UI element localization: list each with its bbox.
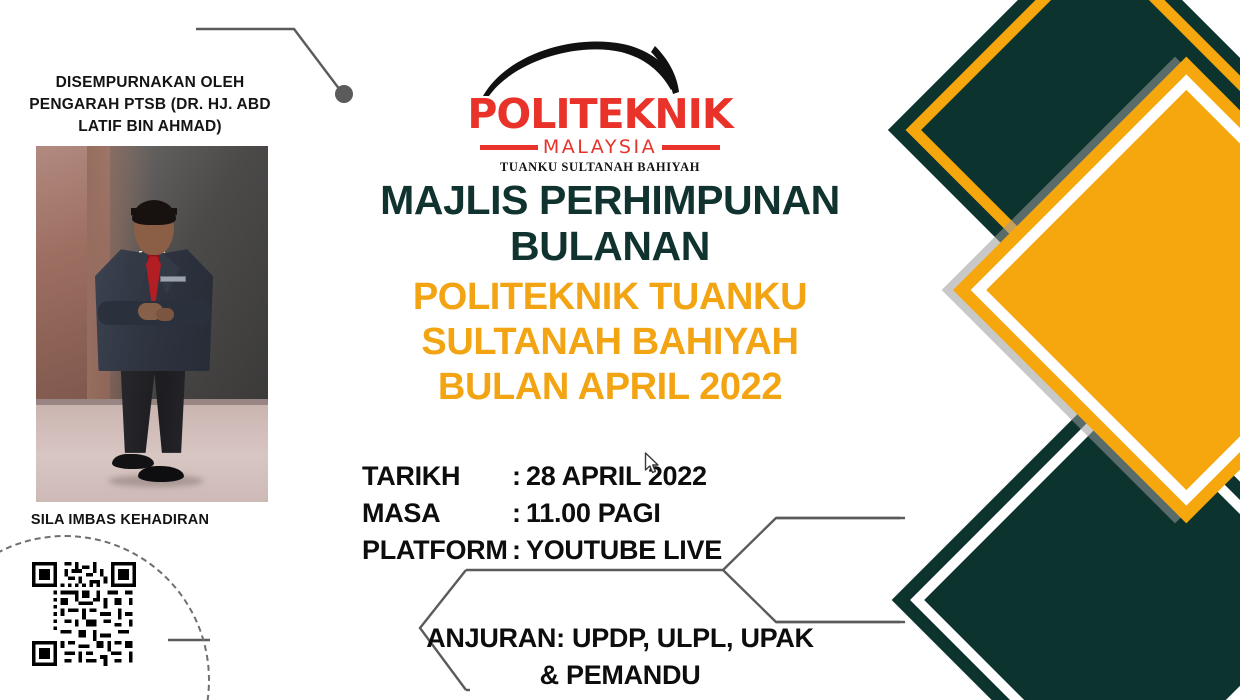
organizers-line-1: ANJURAN: UPDP, ULPL, UPAK (395, 620, 845, 657)
director-caption-line-2: PENGARAH PTSB (DR. HJ. ABD (0, 94, 300, 116)
photo-person-shoe-right (138, 466, 184, 482)
page-subtitle: POLITEKNIK TUANKU SULTANAH BAHIYAH BULAN… (330, 275, 890, 409)
page-title-line-1: MAJLIS PERHIMPUNAN (330, 178, 890, 224)
director-caption: DISEMPURNAKAN OLEH PENGARAH PTSB (DR. HJ… (0, 72, 300, 138)
detail-value-platform: YOUTUBE LIVE (526, 532, 782, 569)
logo-bar-right (662, 145, 720, 150)
page-title: MAJLIS PERHIMPUNAN BULANAN (330, 178, 890, 270)
page-title-line-2: BULANAN (330, 224, 890, 270)
detail-sep-masa: : (512, 495, 526, 532)
page-subtitle-line-1: POLITEKNIK TUANKU (330, 275, 890, 320)
attendance-qr-code[interactable] (32, 562, 136, 666)
presentation-slide: DISEMPURNAKAN OLEH PENGARAH PTSB (DR. HJ… (0, 0, 1240, 700)
logo-bar-left (480, 145, 538, 150)
mouse-cursor (644, 452, 661, 476)
director-caption-line-3: LATIF BIN AHMAD) (0, 116, 300, 138)
organizers-text: ANJURAN: UPDP, ULPL, UPAK & PEMANDU (395, 620, 845, 695)
logo-country-row: MALAYSIA (455, 136, 745, 158)
detail-label-platform: PLATFORM (362, 532, 512, 569)
logo-wordmark: POLITEKNIK (455, 90, 745, 138)
page-subtitle-line-2: SULTANAH BAHIYAH (330, 320, 890, 365)
detail-sep-platform: : (512, 532, 526, 569)
logo-campus: TUANKU SULTANAH BAHIYAH (455, 160, 745, 175)
logo-arc-icon (455, 38, 745, 98)
poliketnik-logo: POLITEKNIK MALAYSIA TUANKU SULTANAH BAHI… (455, 38, 745, 158)
director-caption-line-1: DISEMPURNAKAN OLEH (0, 72, 300, 94)
detail-row-platform: PLATFORM : YOUTUBE LIVE (362, 532, 782, 569)
detail-row-masa: MASA : 11.00 PAGI (362, 495, 782, 532)
logo-country: MALAYSIA (543, 136, 657, 158)
detail-label-masa: MASA (362, 495, 512, 532)
left-column: DISEMPURNAKAN OLEH PENGARAH PTSB (DR. HJ… (0, 0, 300, 700)
event-details: TARIKH : 28 APRIL 2022 MASA : 11.00 PAGI… (362, 458, 782, 569)
page-subtitle-line-3: BULAN APRIL 2022 (330, 365, 890, 410)
detail-value-masa: 11.00 PAGI (526, 495, 782, 532)
photo-person-hand-right (156, 308, 174, 321)
director-photo (36, 146, 268, 502)
detail-label-tarikh: TARIKH (362, 458, 512, 495)
detail-row-tarikh: TARIKH : 28 APRIL 2022 (362, 458, 782, 495)
detail-sep-tarikh: : (512, 458, 526, 495)
photo-person-name-badge (160, 276, 186, 282)
organizers-line-2: & PEMANDU (395, 657, 845, 694)
qr-caption: SILA IMBAS KEHADIRAN (0, 512, 240, 528)
